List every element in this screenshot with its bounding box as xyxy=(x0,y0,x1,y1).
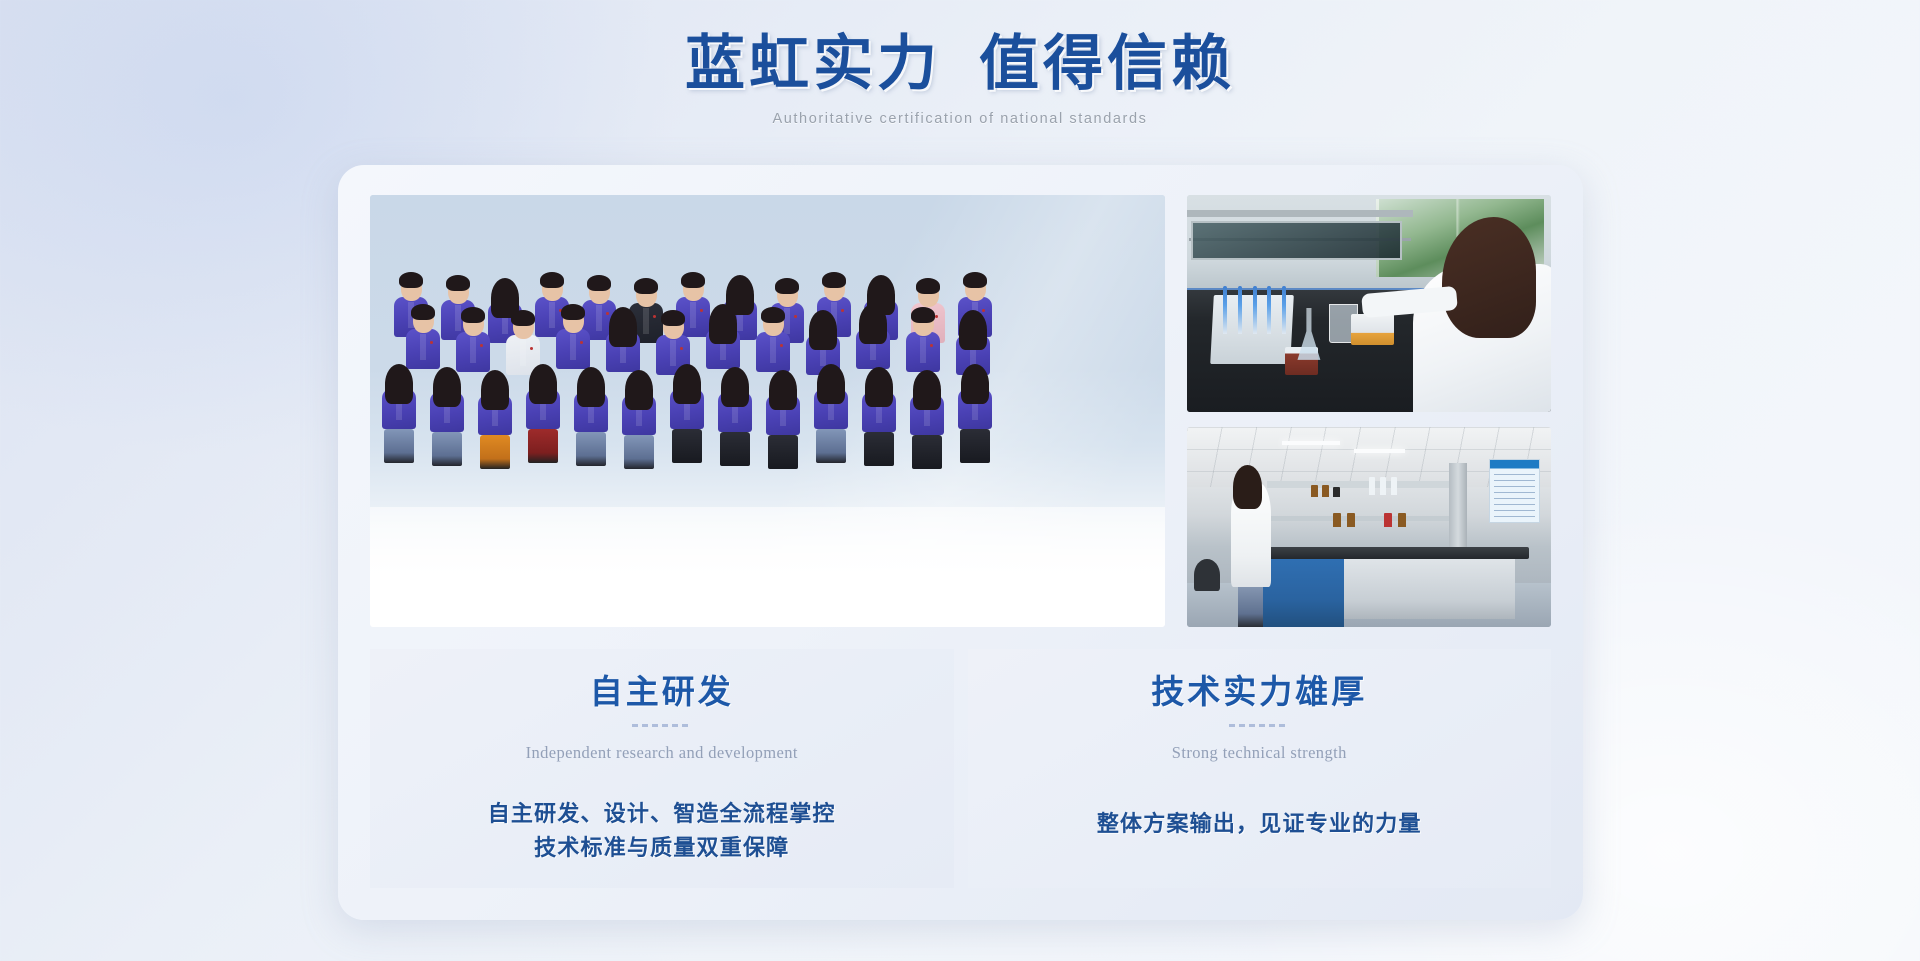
team-member-hair xyxy=(859,304,887,344)
team-member xyxy=(718,371,752,466)
team-member-head xyxy=(824,276,845,301)
team-member-hair xyxy=(911,307,935,323)
lab-room-gray-cabinet xyxy=(1344,559,1515,619)
team-member-uniform xyxy=(456,332,490,372)
shelf-bottle-1 xyxy=(1311,485,1318,497)
page-title: 蓝虹实力 值得信赖 xyxy=(0,30,1920,99)
team-member-head xyxy=(613,311,634,336)
team-member-head xyxy=(871,279,892,304)
feature-card-subtitle: Strong technical strength xyxy=(968,743,1552,763)
team-member-head xyxy=(413,308,434,333)
team-member-hair xyxy=(681,272,705,288)
team-member-head xyxy=(725,371,746,396)
team-member-head xyxy=(730,279,751,304)
team-member xyxy=(910,374,944,469)
team-member-legs xyxy=(624,435,654,469)
team-member xyxy=(556,308,590,369)
team-member xyxy=(756,311,790,372)
team-member-legs xyxy=(864,432,894,466)
team-member-legs xyxy=(960,429,990,463)
lab-room-shelf xyxy=(1267,481,1456,488)
team-member-hair xyxy=(577,367,605,407)
team-photo-floor xyxy=(370,507,1165,627)
team-member-head xyxy=(863,308,884,333)
team-member-head xyxy=(917,374,938,399)
team-member-legs xyxy=(720,432,750,466)
lower-shelf-bottle-4 xyxy=(1398,513,1406,527)
feature-card-title: 自主研发 xyxy=(370,673,954,714)
lab-bench-shelf xyxy=(1187,210,1413,217)
team-member xyxy=(574,371,608,466)
safety-poster xyxy=(1489,459,1540,523)
team-member-uniform xyxy=(906,332,940,372)
team-member xyxy=(430,371,464,466)
team-member xyxy=(526,368,560,463)
team-member-head xyxy=(773,374,794,399)
team-group-photo xyxy=(370,195,1165,627)
media-gallery xyxy=(370,195,1551,627)
team-member-hair xyxy=(761,307,785,323)
laboratory-room-photo xyxy=(1187,427,1551,627)
feature-card-technical-strength[interactable]: 技术实力雄厚 Strong technical strength 整体方案输出，… xyxy=(968,649,1552,888)
pipette-5 xyxy=(1282,286,1286,334)
team-member xyxy=(906,311,940,372)
team-member-legs xyxy=(432,432,462,466)
team-member-hair xyxy=(511,310,535,326)
feature-card-body-line: 整体方案输出，见证专业的力量 xyxy=(968,807,1552,841)
team-member-hair xyxy=(916,278,940,294)
feature-card-body: 整体方案输出，见证专业的力量 xyxy=(968,807,1552,841)
team-member-head xyxy=(663,314,684,339)
team-member xyxy=(814,368,848,463)
pipette-2 xyxy=(1238,286,1242,334)
page-header: 蓝虹实力 值得信赖 Authoritative certification of… xyxy=(0,30,1920,127)
team-member xyxy=(382,368,416,463)
team-member-head xyxy=(542,276,563,301)
team-member xyxy=(456,311,490,372)
team-member-hair xyxy=(769,370,797,410)
team-member xyxy=(862,371,896,466)
team-member-hair xyxy=(673,364,701,404)
team-member-hair xyxy=(913,370,941,410)
team-member-hair xyxy=(661,310,685,326)
team-member-hair xyxy=(625,370,653,410)
feature-cards: 自主研发 Independent research and developmen… xyxy=(370,649,1551,888)
lab-room-bench-top xyxy=(1249,547,1529,559)
team-member-legs xyxy=(816,429,846,463)
shelf-glassware-2 xyxy=(1380,477,1386,495)
team-member xyxy=(856,308,890,369)
team-member-legs xyxy=(768,435,798,469)
team-member-head xyxy=(563,308,584,333)
team-member-legs xyxy=(672,429,702,463)
fume-hood-post xyxy=(1449,463,1467,559)
team-member-head xyxy=(869,371,890,396)
team-member-head xyxy=(389,368,410,393)
sample-tube-box xyxy=(1351,314,1395,344)
team-member-hair xyxy=(446,275,470,291)
team-member-head xyxy=(485,374,506,399)
team-member-hair xyxy=(433,367,461,407)
lower-shelf-bottle-3 xyxy=(1384,513,1392,527)
shelf-bottle-2 xyxy=(1322,485,1329,497)
team-member xyxy=(958,368,992,463)
team-member-hair xyxy=(481,370,509,410)
team-member xyxy=(478,374,512,469)
team-member xyxy=(406,308,440,369)
team-member-uniform xyxy=(556,329,590,369)
team-member-head xyxy=(401,276,422,301)
feature-card-body-line: 技术标准与质量双重保障 xyxy=(370,831,954,865)
shelf-glassware-3 xyxy=(1391,477,1397,495)
team-member-legs xyxy=(528,429,558,463)
team-member-head xyxy=(763,311,784,336)
team-member-head xyxy=(437,371,458,396)
team-member xyxy=(622,374,656,469)
pipette-3 xyxy=(1253,286,1257,334)
lab-room-technician-hair xyxy=(1233,465,1262,509)
team-member-hair xyxy=(963,272,987,288)
team-member-head xyxy=(965,276,986,301)
ceiling-light-1 xyxy=(1282,441,1340,445)
team-member-head xyxy=(965,368,986,393)
team-member-head xyxy=(913,311,934,336)
team-member-hair xyxy=(385,364,413,404)
team-member-head xyxy=(918,282,939,307)
team-member-head xyxy=(713,308,734,333)
pipette-4 xyxy=(1267,286,1271,334)
feature-card-divider xyxy=(632,724,692,727)
team-member-hair xyxy=(540,272,564,288)
team-member-legs xyxy=(480,435,510,469)
team-member-hair xyxy=(709,304,737,344)
team-member xyxy=(606,311,640,372)
page-subtitle: Authoritative certification of national … xyxy=(0,111,1920,127)
lab-bench-glass-cabinet xyxy=(1191,221,1402,260)
team-member-hair xyxy=(809,310,837,350)
pipette-1 xyxy=(1223,286,1227,334)
team-member-hair xyxy=(399,272,423,288)
team-member xyxy=(766,374,800,469)
feature-card-body: 自主研发、设计、智造全流程掌控 技术标准与质量双重保障 xyxy=(370,797,954,865)
team-member-head xyxy=(629,374,650,399)
content-panel: 自主研发 Independent research and developmen… xyxy=(338,165,1583,920)
team-member-legs xyxy=(384,429,414,463)
team-member-head xyxy=(636,282,657,307)
lab-room-technician-legs xyxy=(1238,583,1263,627)
team-member-head xyxy=(463,311,484,336)
team-member-legs xyxy=(576,432,606,466)
team-member-head xyxy=(677,368,698,393)
team-member-hair xyxy=(961,364,989,404)
shelf-glassware-1 xyxy=(1369,477,1375,495)
team-member-head xyxy=(589,279,610,304)
lower-shelf-bottle-2 xyxy=(1347,513,1355,527)
team-member-hair xyxy=(865,367,893,407)
team-member-head xyxy=(581,371,602,396)
feature-card-body-line: 自主研发、设计、智造全流程掌控 xyxy=(370,797,954,831)
team-member-head xyxy=(777,282,798,307)
team-member-hair xyxy=(721,367,749,407)
team-member-hair xyxy=(775,278,799,294)
feature-card-title: 技术实力雄厚 xyxy=(968,673,1552,714)
team-member-hair xyxy=(609,307,637,347)
feature-card-independent-rd[interactable]: 自主研发 Independent research and developmen… xyxy=(370,649,954,888)
team-member-head xyxy=(963,314,984,339)
team-member-hair xyxy=(822,272,846,288)
lab-stool xyxy=(1194,559,1219,591)
team-member xyxy=(670,368,704,463)
team-member-head xyxy=(683,276,704,301)
media-right-column xyxy=(1187,195,1551,627)
team-member-head xyxy=(495,282,516,307)
team-member-hair xyxy=(529,364,557,404)
team-member-head xyxy=(448,279,469,304)
lab-technician-photo xyxy=(1187,195,1551,412)
team-member-uniform xyxy=(406,329,440,369)
team-member-hair xyxy=(817,364,845,404)
team-member-legs xyxy=(912,435,942,469)
shelf-bottle-3 xyxy=(1333,487,1340,497)
team-member-hair xyxy=(411,304,435,320)
feature-card-divider xyxy=(1229,724,1289,727)
team-member-head xyxy=(813,314,834,339)
team-member-uniform xyxy=(756,332,790,372)
feature-card-subtitle: Independent research and development xyxy=(370,743,954,763)
team-member-hair xyxy=(461,307,485,323)
lower-shelf-bottle-1 xyxy=(1333,513,1341,527)
ceiling-light-2 xyxy=(1354,449,1405,453)
team-member-hair xyxy=(634,278,658,294)
team-member xyxy=(706,308,740,369)
team-member-head xyxy=(513,314,534,339)
team-member-hair xyxy=(959,310,987,350)
team-member-head xyxy=(533,368,554,393)
team-member-hair xyxy=(561,304,585,320)
team-member-head xyxy=(821,368,842,393)
team-member-hair xyxy=(587,275,611,291)
